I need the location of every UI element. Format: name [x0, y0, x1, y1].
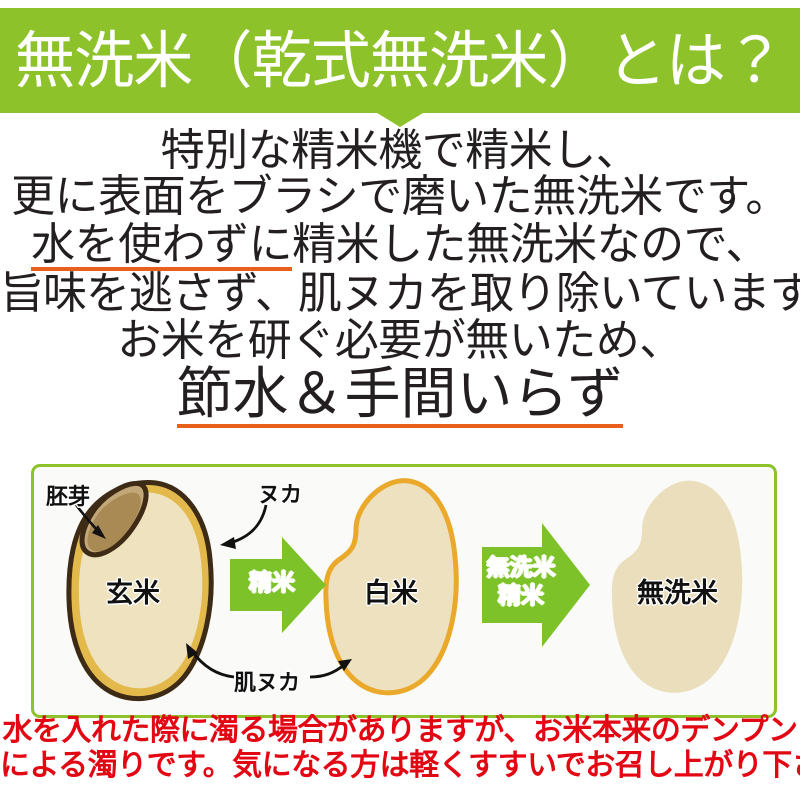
rice-process-diagram: 玄米 白米 無洗米 胚芽 ヌカ 肌ヌカ 精米 無洗米 精米 — [31, 464, 777, 718]
copy-line-3: 水を使わずに精米した無洗米なので、 — [0, 222, 800, 271]
copy-line-4: 旨味を逃さず、肌ヌカを取り除いています! — [0, 271, 800, 317]
body-copy: 特別な精米機で精米し、 更に表面をブラシで磨いた無洗米です。 水を使わずに精米し… — [0, 128, 800, 428]
copy-line-6-highlight: 節水＆手間いらず — [0, 366, 800, 428]
arrow-label-musenmai: 無洗米 — [482, 557, 560, 580]
callout-label-haiga: 胚芽 — [46, 479, 90, 511]
copy-line-3-underlined: 水を使わずに — [31, 223, 292, 271]
infographic-page: 無洗米（乾式無洗米）とは？ 特別な精米機で精米し、 更に表面をブラシで磨いた無洗… — [0, 0, 800, 800]
copy-line-6-underlined: 節水＆手間いらず — [177, 368, 624, 428]
copy-line-3-rest: 精米した無洗米なので、 — [292, 219, 769, 270]
grain-label-hakumai: 白米 — [364, 571, 418, 610]
callout-label-nuka: ヌカ — [258, 477, 302, 509]
copy-line-2: 更に表面をブラシで磨いた無洗米です。 — [0, 174, 800, 220]
header-banner: 無洗米（乾式無洗米）とは？ — [0, 8, 800, 113]
copy-line-5: お米を研ぐ必要が無いため、 — [0, 318, 800, 364]
arrow-label-seimai: 精米 — [237, 572, 307, 595]
grain-label-genmai: 玄米 — [106, 571, 160, 610]
copy-line-1: 特別な精米機で精米し、 — [0, 128, 800, 174]
page-title: 無洗米（乾式無洗米）とは？ — [15, 30, 784, 92]
callout-arrow-hadanuka-right — [310, 665, 344, 677]
footer-line-1: 水を入れた際に濁る場合がありますが、お米本来のデンプン — [0, 714, 800, 749]
callout-arrow-nuka — [230, 505, 266, 543]
callout-arrowhead-nuka — [220, 537, 236, 549]
grain-label-musenmai: 無洗米 — [637, 571, 718, 610]
callout-label-hada-nuka: 肌ヌカ — [234, 665, 300, 697]
arrow-label-seimai-2: 精米 — [482, 585, 560, 608]
footer-line-2: による濁りです。気になる方は軽くすすいでお召し上がり下さい。 — [0, 749, 800, 784]
footer-note: 水を入れた際に濁る場合がありますが、お米本来のデンプン による濁りです。気になる… — [0, 714, 800, 784]
